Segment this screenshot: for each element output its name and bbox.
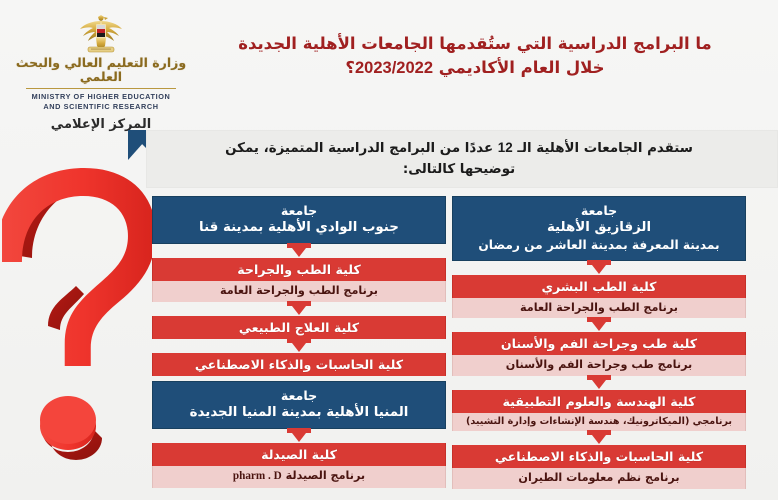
program-pharmacy-degree: pharm . D: [233, 470, 282, 482]
intro-line2: توضيحها كالتالى:: [225, 160, 693, 181]
ministry-name-arabic: وزارة التعليم العالي والبحث العلمي: [8, 56, 194, 85]
faculty-box-physical-therapy: كلية العلاج الطبيعي: [152, 316, 446, 339]
page-title-line2-prefix: خلال العام الأكاديمي: [433, 58, 605, 77]
intro-text: ستقدم الجامعات الأهلية الـ 12 عددًا من ا…: [225, 138, 693, 181]
faculty-box-engineering-applied-sciences: كلية الهندسة والعلوم التطبيقية: [452, 390, 746, 413]
page-title-line1: ما البرامج الدراسية التي ستُقدمها الجامع…: [186, 32, 764, 56]
page-title-line2-suffix: ؟: [345, 58, 355, 77]
intro-banner-box: ستقدم الجامعات الأهلية الـ 12 عددًا من ا…: [146, 130, 778, 188]
program-box-general-medicine: برنامج الطب والجراحة العامة: [452, 298, 746, 318]
arrow-down-icon: [452, 318, 746, 332]
page-title-line2: خلال العام الأكاديمي 2023/2022؟: [186, 56, 764, 81]
arrow-down-icon: [152, 244, 446, 258]
arrow-down-icon: [152, 339, 446, 353]
ministry-name-english-line2: AND SCIENTIFIC RESEARCH: [8, 102, 194, 112]
program-box-dentistry: برنامج طب وجراحة الفم والأسنان: [452, 355, 746, 375]
program-box-pharmd: برنامج الصيدلة pharm . D: [152, 466, 446, 487]
university-count: 12: [498, 140, 513, 155]
ministry-name-english-line1: MINISTRY OF HIGHER EDUCATION: [8, 92, 194, 102]
arrow-down-icon: [452, 261, 746, 275]
ministry-logo: وزارة التعليم العالي والبحث العلمي MINIS…: [8, 14, 194, 132]
university-label: جامعة: [159, 202, 439, 219]
university-label: جامعة: [159, 387, 439, 404]
page-title: ما البرامج الدراسية التي ستُقدمها الجامع…: [186, 32, 764, 81]
faculty-box-human-medicine: كلية الطب البشري: [452, 275, 746, 298]
program-box-aviation-information-systems: برنامج نظم معلومات الطيران: [452, 468, 746, 488]
infographic-page: وزارة التعليم العالي والبحث العلمي MINIS…: [0, 0, 778, 500]
faculty-box-medicine-surgery: كلية الطب والجراحة: [152, 258, 446, 281]
academic-year: 2023/2022: [355, 59, 433, 77]
university-box-south-valley: جامعة جنوب الوادي الأهلية بمدينة قنا: [152, 196, 446, 244]
intro-banner: ستقدم الجامعات الأهلية الـ 12 عددًا من ا…: [128, 130, 778, 188]
university-box-minya: جامعة المنيا الأهلية بمدينة المنيا الجدي…: [152, 381, 446, 429]
question-mark-icon: [2, 158, 152, 492]
university-box-zagazig: جامعة الزقازيق الأهلية بمدينة المعرفة بم…: [452, 196, 746, 261]
intro-line1-before: ستقدم الجامعات الأهلية الـ: [513, 141, 693, 156]
university-name: المنيا الأهلية بمدينة المنيا الجديدة: [159, 404, 439, 422]
column-left: جامعة جنوب الوادي الأهلية بمدينة قنا كلي…: [152, 196, 446, 488]
egypt-eagle-emblem-icon: [78, 14, 124, 54]
university-name: جنوب الوادي الأهلية بمدينة قنا: [159, 219, 439, 237]
arrow-down-icon: [152, 302, 446, 316]
university-label: جامعة: [459, 202, 739, 219]
arrow-down-icon: [152, 429, 446, 443]
column-right: جامعة الزقازيق الأهلية بمدينة المعرفة بم…: [452, 196, 746, 489]
faculty-box-computing-ai: كلية الحاسبات والذكاء الاصطناعي: [152, 353, 446, 376]
arrow-down-icon: [452, 431, 746, 445]
university-name: الزقازيق الأهلية: [459, 219, 739, 237]
arrow-down-icon: [452, 376, 746, 390]
program-box-engineering: برنامجي (الميكاترونيك، هندسة الإنشاءات و…: [452, 413, 746, 432]
faculty-box-dentistry: كلية طب وجراحة الفم والأسنان: [452, 332, 746, 355]
intro-line1-after: عددًا من البرامج الدراسية المتميزة، يمكن: [225, 141, 498, 156]
faculty-box-pharmacy: كلية الصيدلة: [152, 443, 446, 466]
university-location: بمدينة المعرفة بمدينة العاشر من رمضان: [459, 237, 739, 253]
program-pharmacy-prefix: برنامج الصيدلة: [282, 469, 365, 482]
program-box-general-medicine: برنامج الطب والجراحة العامة: [152, 281, 446, 301]
logo-divider: [26, 88, 176, 89]
faculty-box-computing-ai: كلية الحاسبات والذكاء الاصطناعي: [452, 445, 746, 468]
